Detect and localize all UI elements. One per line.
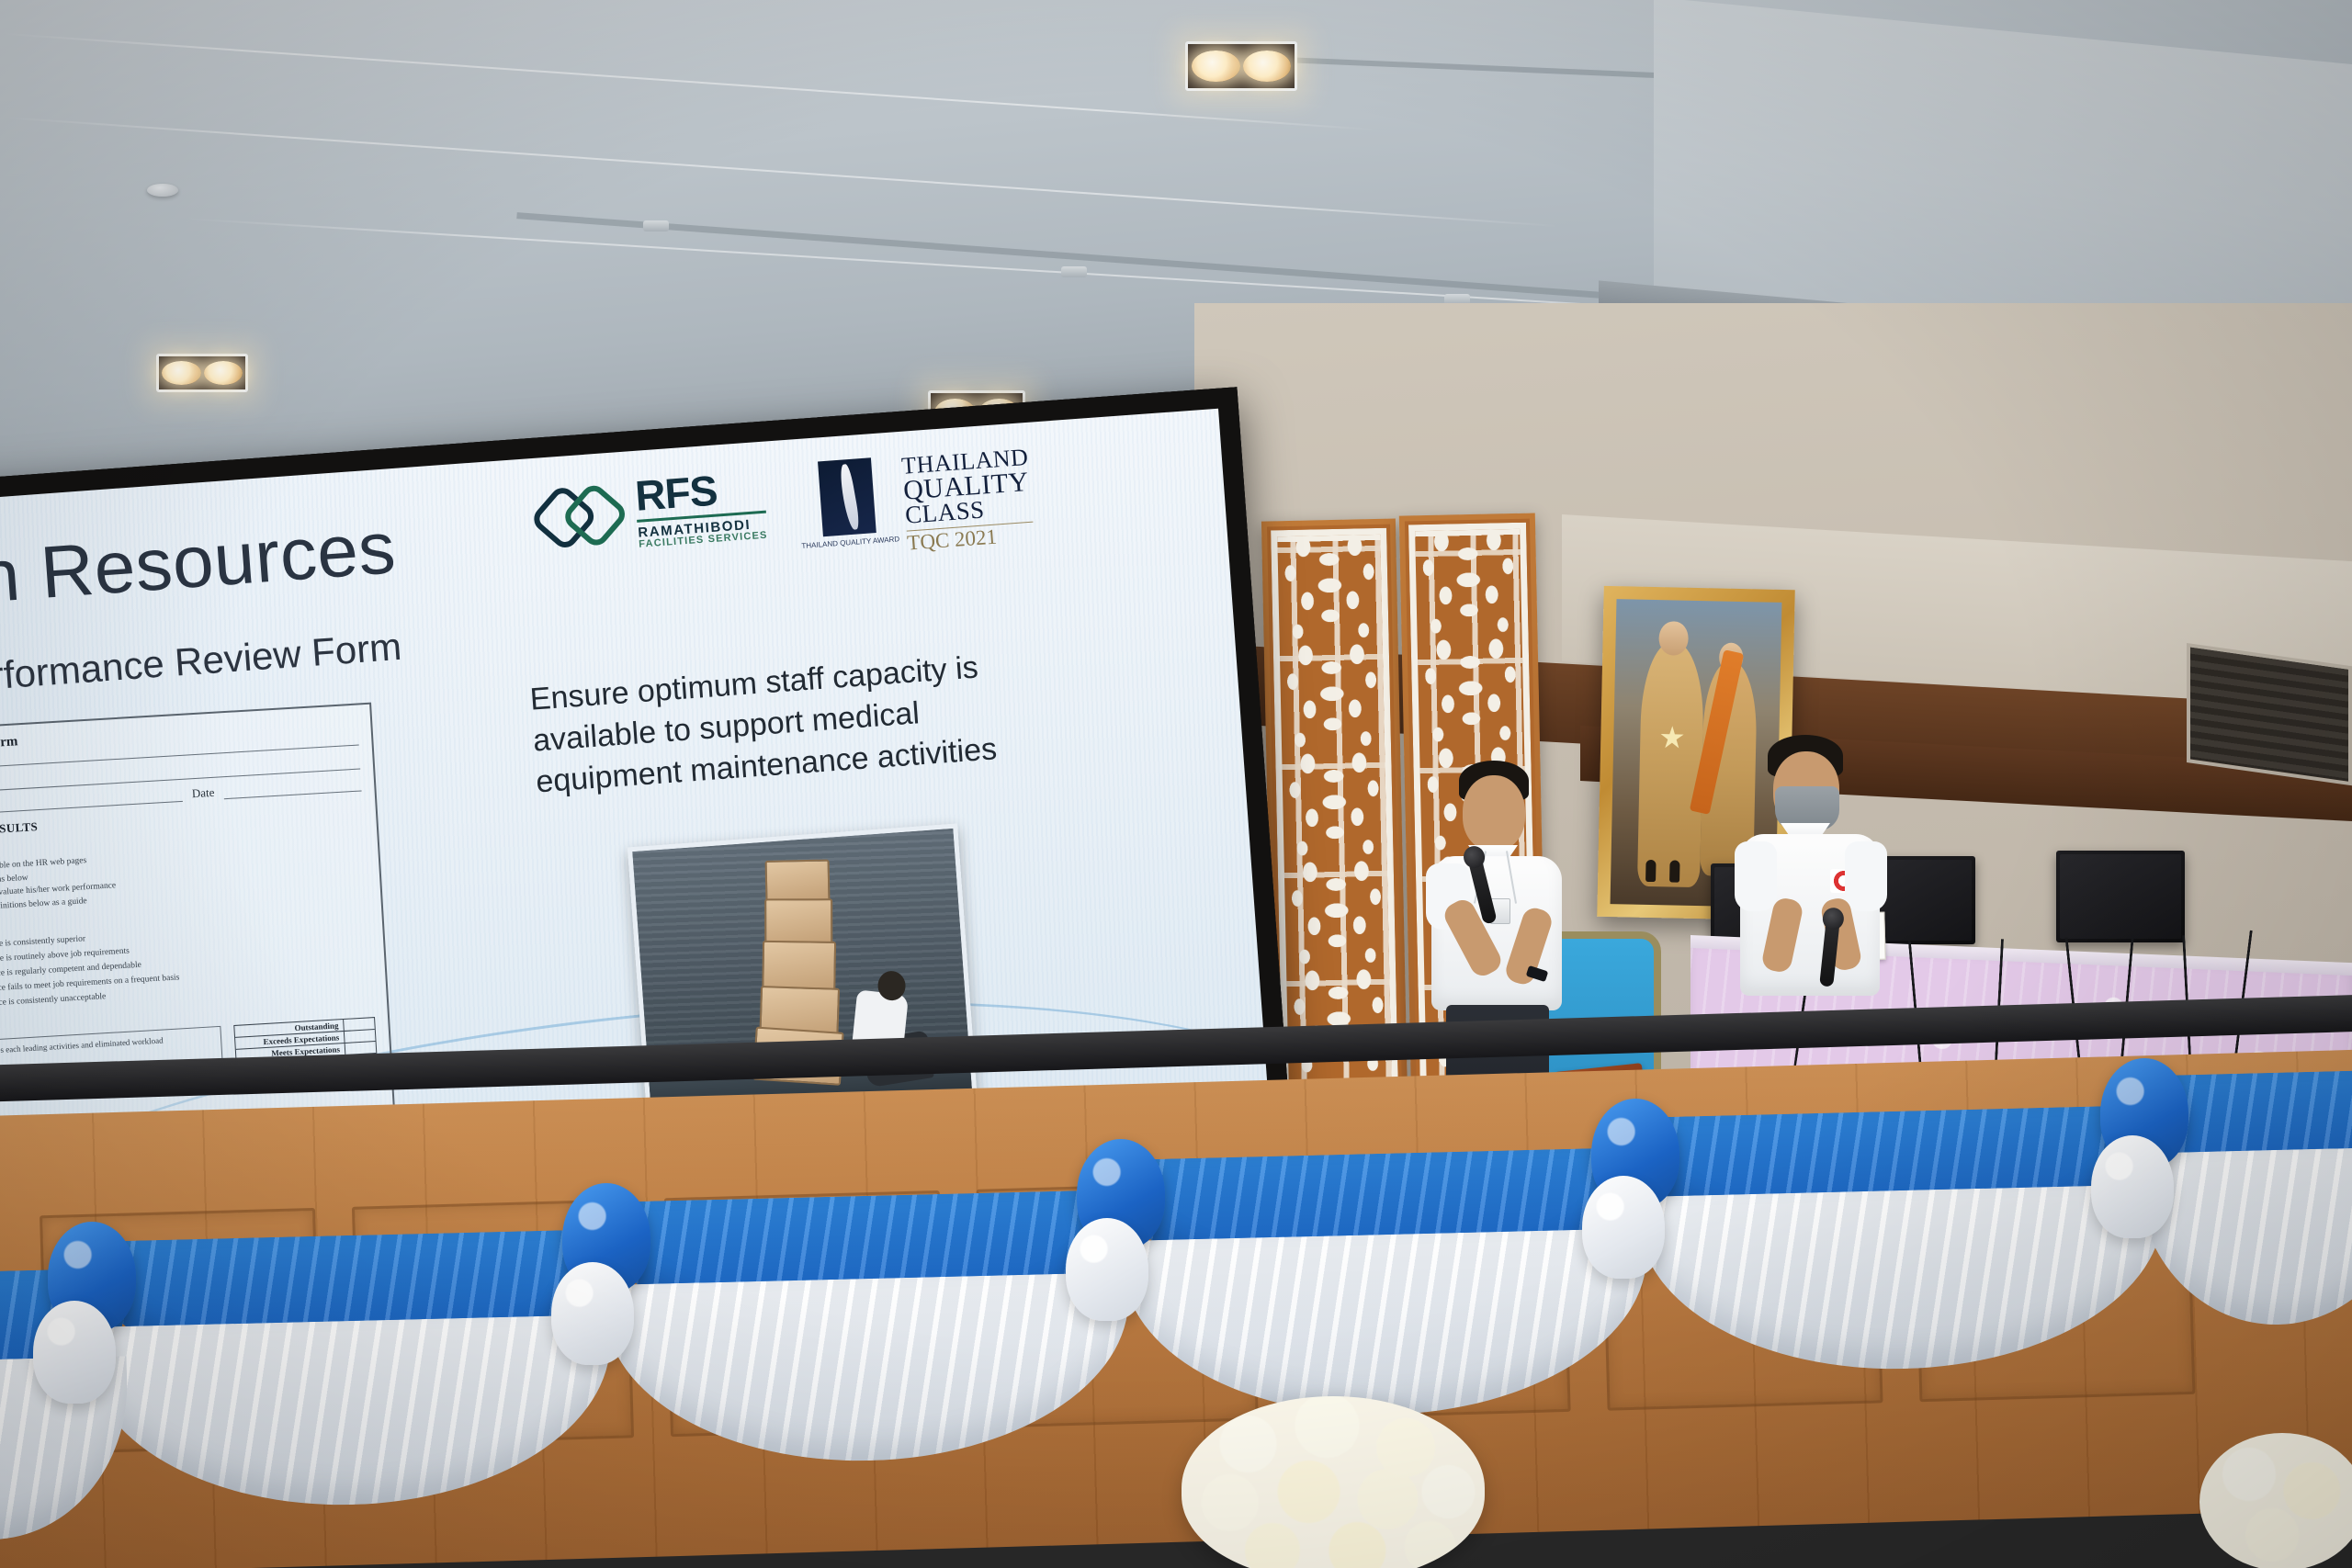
ceiling-speaker-icon xyxy=(1061,266,1087,277)
tqc-sub-label: THAILAND QUALITY AWARD xyxy=(801,535,899,550)
form-field-label-date: Date xyxy=(191,785,214,801)
rfs-acronym: RFS xyxy=(634,466,766,517)
lamp-bulb xyxy=(1192,51,1239,83)
face xyxy=(1463,775,1525,851)
royal-decoration-star-icon xyxy=(1660,726,1685,750)
photo-box xyxy=(765,860,831,903)
portrait-boot xyxy=(1669,860,1679,882)
shirt-sleeve xyxy=(1845,841,1887,911)
tqc-emblem-icon xyxy=(818,457,876,536)
drape-rosette-white xyxy=(551,1262,634,1365)
white-rose-bouquet xyxy=(1182,1396,1485,1568)
score-checkbox[interactable] xyxy=(345,1042,377,1055)
lamp-bulb xyxy=(1243,51,1291,83)
ceiling-downlight xyxy=(156,354,248,392)
portrait-figure-king xyxy=(1637,642,1705,887)
rfs-links-icon xyxy=(537,485,628,548)
air-conditioning-vent xyxy=(2187,643,2352,785)
portrait-head xyxy=(1658,621,1688,656)
drape-rosette-white xyxy=(33,1301,116,1404)
ceiling-speaker-icon xyxy=(643,220,669,231)
tqc-logo: THAILAND QUALITY AWARD THAILAND QUALITY … xyxy=(796,446,1035,561)
photo-box xyxy=(762,941,836,991)
drape-rosette-white xyxy=(2091,1135,2174,1238)
slide-title: uman Resources xyxy=(0,505,399,630)
smoke-detector-icon xyxy=(147,184,178,197)
monitor[interactable] xyxy=(2056,851,2185,942)
slide-subtitle: le of Performance Review Form xyxy=(0,625,403,708)
form-field-input-date[interactable] xyxy=(223,778,362,799)
score-checkbox[interactable] xyxy=(344,1030,376,1043)
ceiling-downlight xyxy=(1185,41,1297,91)
shirt-sleeve xyxy=(1735,841,1777,911)
rfs-logo: RFS RAMATHIBODI FACILITIES SERVICES xyxy=(537,466,768,558)
conference-photo-scene: uman Resources le of Performance Review … xyxy=(0,0,2352,1568)
slide-body-text: Ensure optimum staff capacity is availab… xyxy=(528,642,1050,803)
drape-rosette-white xyxy=(1582,1176,1665,1279)
white-rose-bouquet xyxy=(2199,1433,2352,1568)
drape-rosette-white xyxy=(1066,1218,1148,1321)
lamp-bulb xyxy=(204,361,243,385)
lamp-bulb xyxy=(162,361,200,385)
slide-logo-bar: RFS RAMATHIBODI FACILITIES SERVICES THAI… xyxy=(537,446,1035,580)
score-checkbox[interactable] xyxy=(343,1018,375,1031)
portrait-boot xyxy=(1645,860,1656,882)
photo-box xyxy=(764,898,832,944)
